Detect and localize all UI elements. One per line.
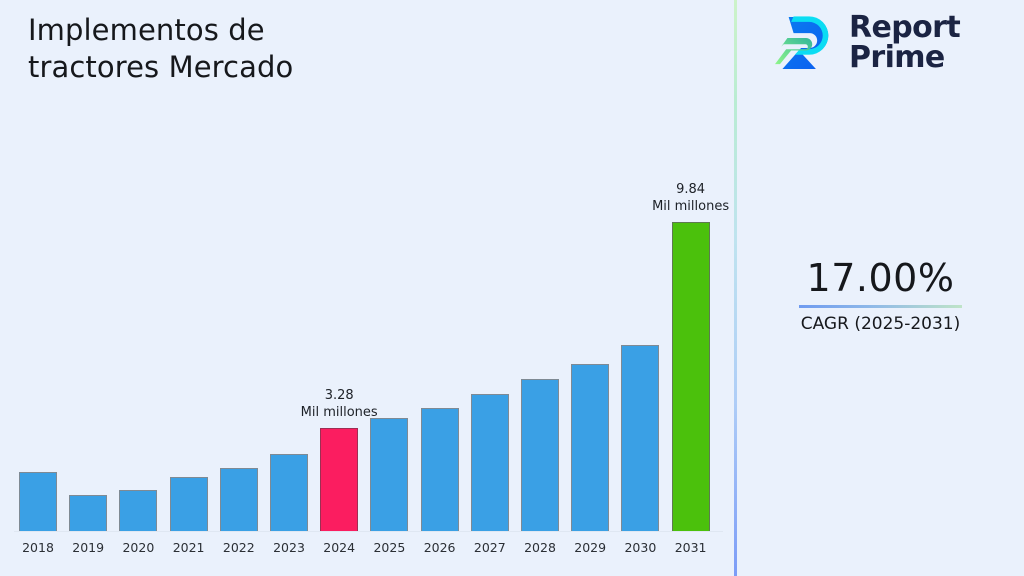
infographic-page: Implementos de tractores Mercado 2018201…	[0, 0, 1024, 576]
bar-2028	[521, 379, 559, 531]
bar-2031	[672, 222, 710, 531]
x-axis-line	[14, 531, 723, 532]
report-prime-logo-mark	[775, 12, 837, 74]
bar-2022	[220, 468, 258, 531]
x-tick-2029: 2029	[565, 540, 615, 555]
x-tick-2022: 2022	[214, 540, 264, 555]
bar-2024	[320, 428, 358, 531]
data-label-2024: 3.28 Mil millones	[259, 387, 419, 421]
x-tick-2031: 2031	[666, 540, 716, 555]
brand-name: Report Prime	[849, 13, 960, 73]
cagr-caption: CAGR (2025-2031)	[737, 312, 1024, 336]
bar-2030	[621, 345, 659, 531]
bar-2023	[270, 454, 308, 531]
x-tick-2019: 2019	[63, 540, 113, 555]
x-tick-2024: 2024	[314, 540, 364, 555]
x-tick-2023: 2023	[264, 540, 314, 555]
bar-2027	[471, 394, 509, 531]
brand-logo: Report Prime	[775, 12, 960, 74]
bar-2019	[69, 495, 107, 531]
cagr-block: 17.00% CAGR (2025-2031)	[737, 256, 1024, 336]
x-tick-2021: 2021	[164, 540, 214, 555]
x-tick-2027: 2027	[465, 540, 515, 555]
bar-2029	[571, 364, 609, 531]
bar-2018	[19, 472, 57, 531]
bar-chart: 2018201920202021202220232024202520262027…	[0, 0, 734, 576]
bar-2025	[370, 418, 408, 531]
brand-panel: Report Prime 17.00% CAGR (2025-2031)	[737, 0, 1024, 576]
x-tick-2026: 2026	[415, 540, 465, 555]
cagr-divider-rule	[799, 305, 962, 308]
bar-2021	[170, 477, 208, 531]
x-tick-2028: 2028	[515, 540, 565, 555]
cagr-value: 17.00%	[737, 256, 1024, 300]
x-tick-2030: 2030	[615, 540, 665, 555]
x-tick-2018: 2018	[13, 540, 63, 555]
x-tick-2025: 2025	[364, 540, 414, 555]
x-tick-2020: 2020	[113, 540, 163, 555]
bar-2020	[119, 490, 157, 531]
bar-2026	[421, 408, 459, 531]
